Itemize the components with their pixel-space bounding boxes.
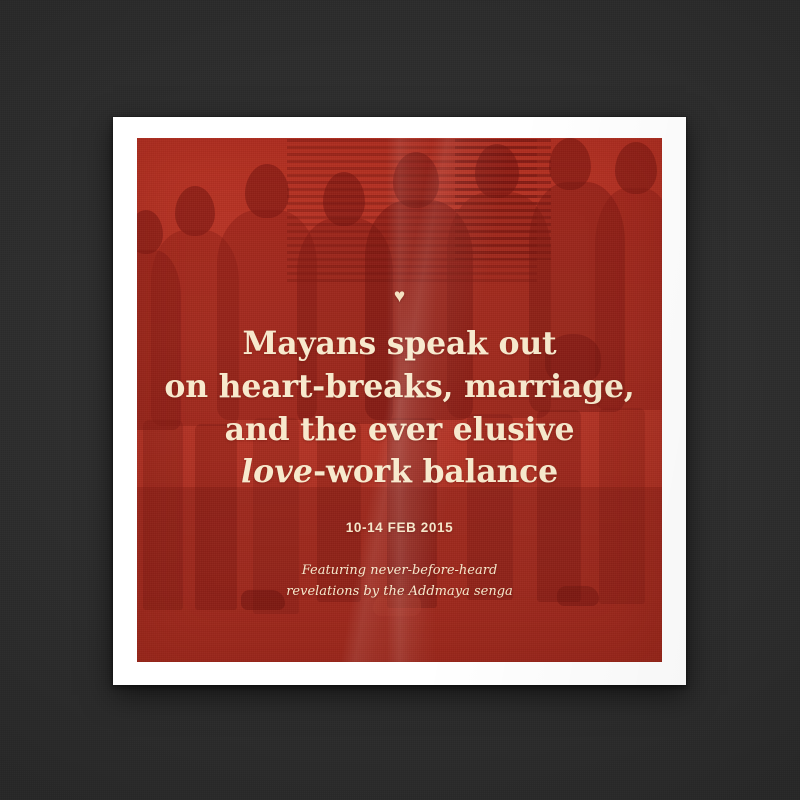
featuring-line-1: Featuring never-before-heard <box>286 560 513 581</box>
poster-copy: ♥ Mayans speak out on heart-breaks, marr… <box>137 138 662 662</box>
poster-card[interactable]: ♥ Mayans speak out on heart-breaks, marr… <box>113 117 686 685</box>
headline-line-1: Mayans speak out <box>164 323 634 366</box>
page-title: Mayans speak out on heart-breaks, marria… <box>154 323 644 494</box>
scene-backdrop: ♥ Mayans speak out on heart-breaks, marr… <box>0 0 800 800</box>
headline-line-2: on heart-breaks, marriage, <box>164 366 634 409</box>
featuring-line-2: revelations by the Addmaya senga <box>286 581 513 602</box>
event-dates: 10-14 FEB 2015 <box>346 520 453 535</box>
headline-line-3: and the ever elusive <box>164 409 634 452</box>
heart-icon: ♥ <box>394 287 405 306</box>
headline-line-4: love-work balance <box>164 451 634 494</box>
featuring-text: Featuring never-before-heard revelations… <box>286 560 513 602</box>
poster-artwork: ♥ Mayans speak out on heart-breaks, marr… <box>137 138 662 662</box>
headline-script-word: love <box>241 453 313 490</box>
headline-line-4-rest: -work balance <box>313 453 558 490</box>
